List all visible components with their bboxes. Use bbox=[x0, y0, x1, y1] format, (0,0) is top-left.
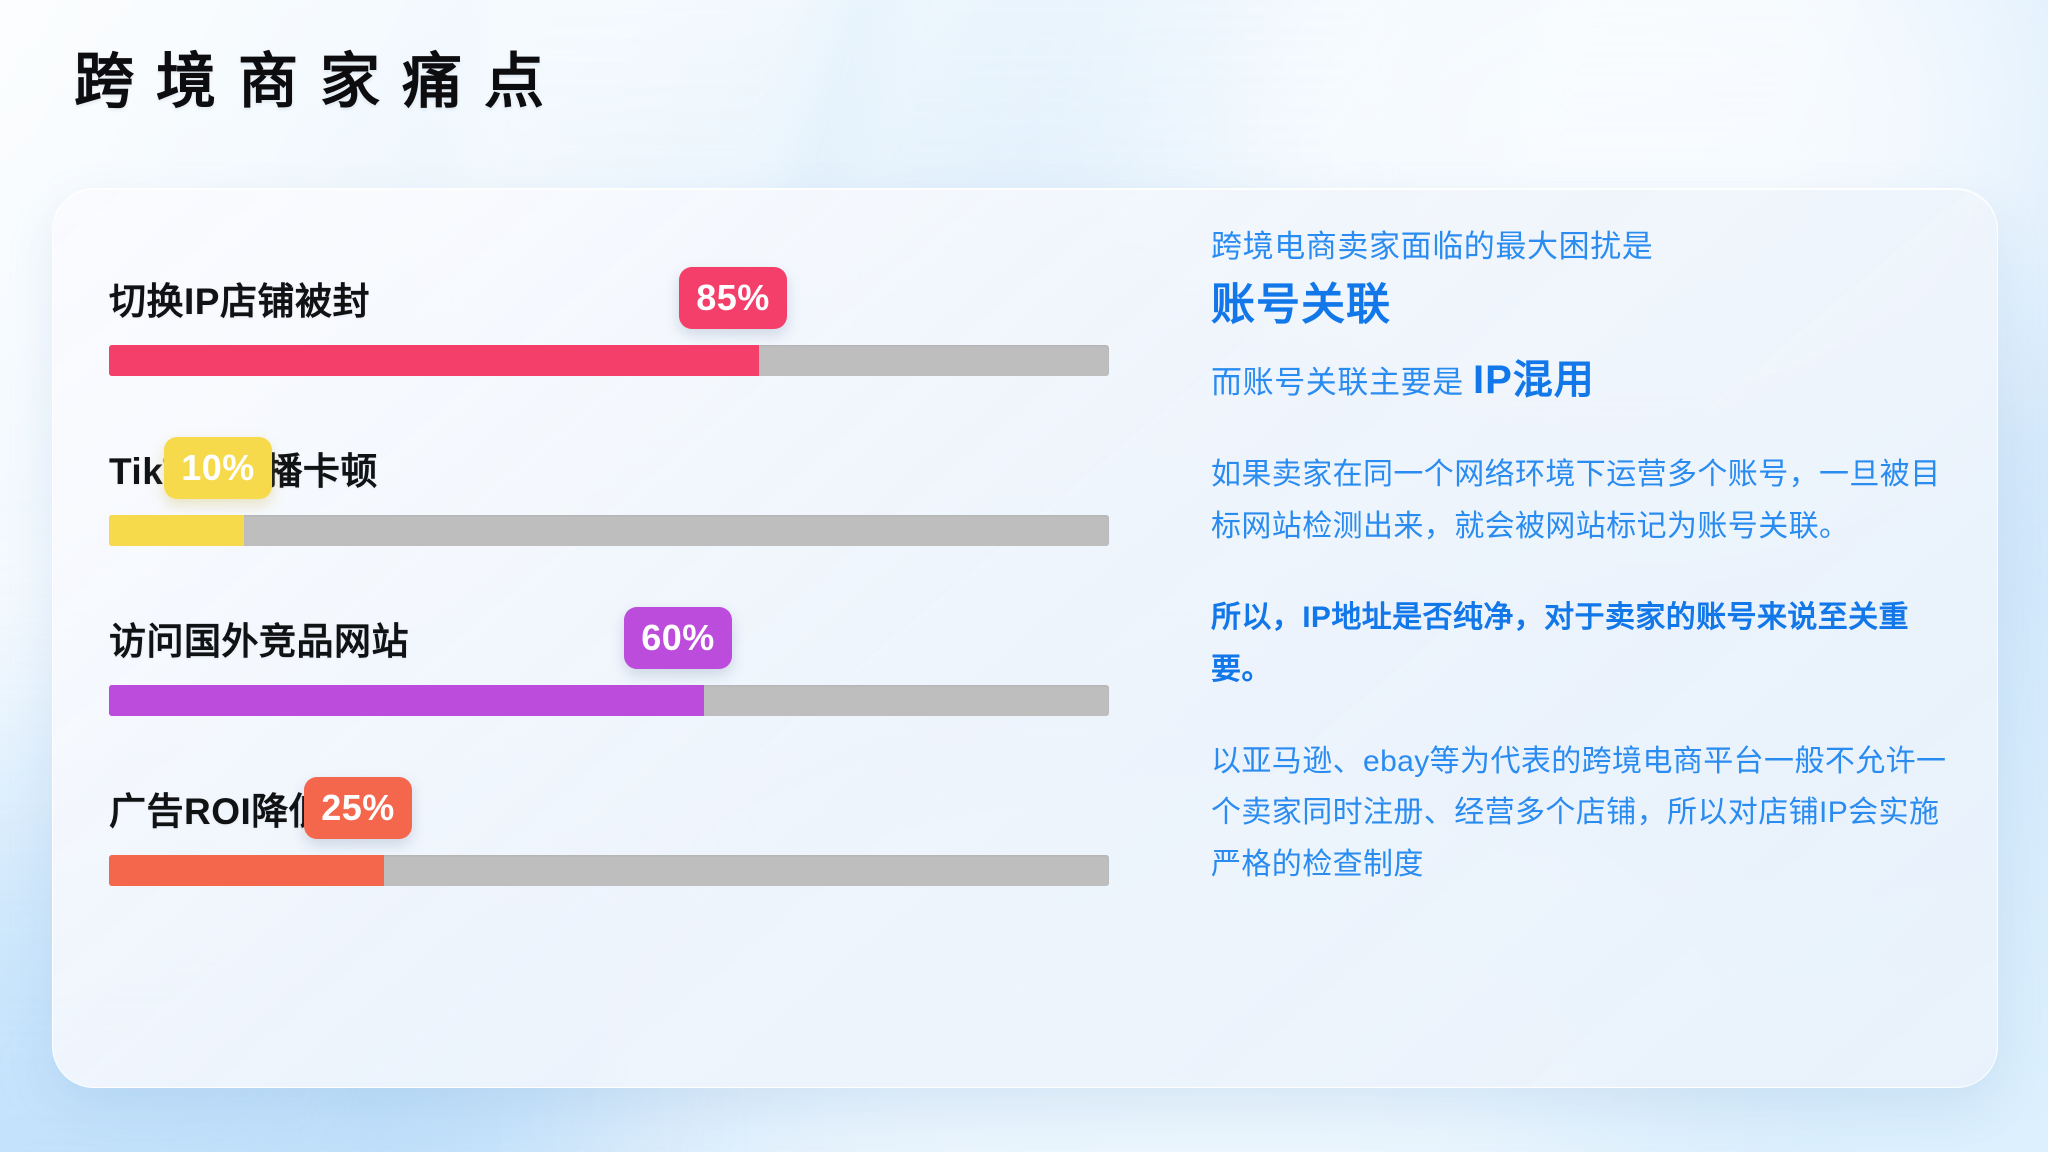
bar-label: 访问国外竞品网站 bbox=[109, 611, 409, 665]
bar-track bbox=[109, 515, 1109, 546]
info-lead: 跨境电商卖家面临的最大困扰是 bbox=[1211, 225, 1951, 269]
slide-root: 跨境商家痛点 切换IP店铺被封 85% TikTok直播卡顿 10% bbox=[0, 0, 2048, 1152]
bar-fill bbox=[109, 515, 244, 546]
bar-header: 广告ROI降低 25% bbox=[109, 757, 1169, 843]
bar-fill bbox=[109, 685, 704, 716]
bar-header: TikTok直播卡顿 10% bbox=[109, 417, 1169, 503]
page-title: 跨境商家痛点 bbox=[74, 52, 566, 112]
bar-label: 切换IP店铺被封 bbox=[109, 271, 370, 325]
bar-header: 访问国外竞品网站 60% bbox=[109, 587, 1169, 673]
bar-row: TikTok直播卡顿 10% bbox=[109, 417, 1169, 587]
bar-track bbox=[109, 345, 1109, 376]
bar-fill bbox=[109, 855, 384, 886]
bar-row: 切换IP店铺被封 85% bbox=[109, 247, 1169, 417]
info-paragraph-2: 所以，IP地址是否纯净，对于卖家的账号来说至关重要。 bbox=[1211, 592, 1951, 695]
bar-fill bbox=[109, 345, 759, 376]
bar-header: 切换IP店铺被封 85% bbox=[109, 247, 1169, 333]
content-card: 切换IP店铺被封 85% TikTok直播卡顿 10% 访问国外竞品网站 bbox=[52, 188, 1998, 1088]
info-headline: 账号关联 bbox=[1211, 275, 1951, 334]
bar-value-badge: 25% bbox=[304, 777, 412, 839]
info-mix-line: 而账号关联主要是 IP混用 bbox=[1211, 352, 1951, 409]
bar-row: 访问国外竞品网站 60% bbox=[109, 587, 1169, 757]
bar-value-badge: 60% bbox=[624, 607, 732, 669]
info-panel: 跨境电商卖家面临的最大困扰是 账号关联 而账号关联主要是 IP混用 如果卖家在同… bbox=[1211, 225, 1951, 890]
bar-value-badge: 10% bbox=[164, 437, 272, 499]
info-mix-prefix: 而账号关联主要是 bbox=[1211, 365, 1473, 400]
bar-row: 广告ROI降低 25% bbox=[109, 757, 1169, 927]
bar-track bbox=[109, 685, 1109, 716]
bar-value-badge: 85% bbox=[679, 267, 787, 329]
bar-chart: 切换IP店铺被封 85% TikTok直播卡顿 10% 访问国外竞品网站 bbox=[109, 247, 1169, 927]
bar-label: 广告ROI降低 bbox=[109, 781, 326, 835]
bar-track bbox=[109, 855, 1109, 886]
info-paragraph-3: 以亚马逊、ebay等为代表的跨境电商平台一般不允许一个卖家同时注册、经营多个店铺… bbox=[1211, 736, 1951, 891]
info-mix-highlight: IP混用 bbox=[1473, 358, 1595, 402]
info-paragraph-1: 如果卖家在同一个网络环境下运营多个账号，一旦被目标网站检测出来，就会被网站标记为… bbox=[1211, 449, 1951, 552]
